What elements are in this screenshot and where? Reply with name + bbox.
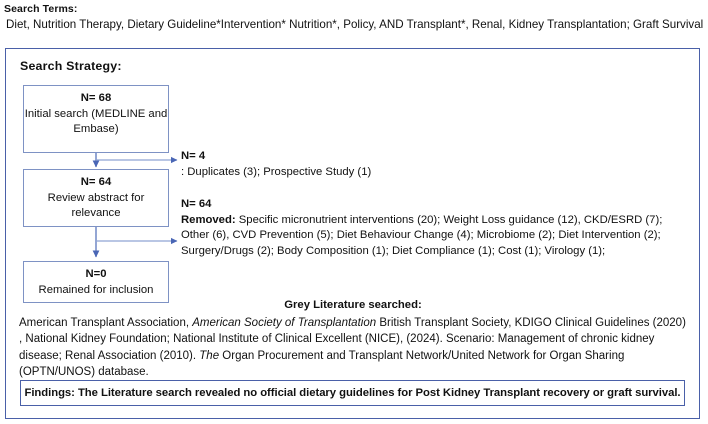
note-duplicates: N= 4 : Duplicates (3); Prospective Study… xyxy=(181,149,511,180)
note-removed-text: Specific micronutrient interventions (20… xyxy=(181,214,662,257)
grey-literature-heading: Grey Literature searched: xyxy=(23,299,683,311)
note-duplicates-count: N= 4 xyxy=(181,149,511,165)
findings-text: Findings: The Literature search revealed… xyxy=(24,387,680,399)
flow-box-remained-inclusion-count: N=0 xyxy=(24,267,168,283)
flow-box-remained-inclusion: N=0 Remained for inclusion xyxy=(23,261,169,303)
flow-box-remained-inclusion-label: Remained for inclusion xyxy=(24,283,168,299)
grey-literature-italic1: American Society of Transplantation xyxy=(192,317,376,329)
search-terms-text: Diet, Nutrition Therapy, Dietary Guideli… xyxy=(4,17,704,34)
search-strategy-heading: Search Strategy: xyxy=(20,59,122,73)
search-terms-heading: Search Terms: xyxy=(4,2,704,17)
note-removed-count: N= 64 xyxy=(181,197,691,213)
search-terms-section: Search Terms: Diet, Nutrition Therapy, D… xyxy=(4,2,704,34)
grey-literature-part1: American Transplant Association, xyxy=(19,317,192,329)
flow-box-initial-search: N= 68 Initial search (MEDLINE and Embase… xyxy=(23,85,169,153)
flow-box-initial-search-label: Initial search (MEDLINE and Embase) xyxy=(24,107,168,138)
note-duplicates-text: : Duplicates (3); Prospective Study (1) xyxy=(181,166,371,178)
note-removed-lead: Removed: xyxy=(181,214,236,226)
flow-box-review-abstract-label: Review abstract for relevance xyxy=(24,191,168,222)
flow-box-review-abstract: N= 64 Review abstract for relevance xyxy=(23,169,169,227)
grey-literature-body: American Transplant Association, America… xyxy=(19,315,691,381)
flow-box-initial-search-count: N= 68 xyxy=(24,91,168,107)
flow-box-review-abstract-count: N= 64 xyxy=(24,175,168,191)
grey-literature-italic2: The xyxy=(199,350,219,362)
note-removed: N= 64 Removed: Specific micronutrient in… xyxy=(181,197,691,259)
search-strategy-panel: Search Strategy: N= 68 Initial search (M… xyxy=(5,48,700,419)
findings-box: Findings: The Literature search revealed… xyxy=(20,380,685,406)
